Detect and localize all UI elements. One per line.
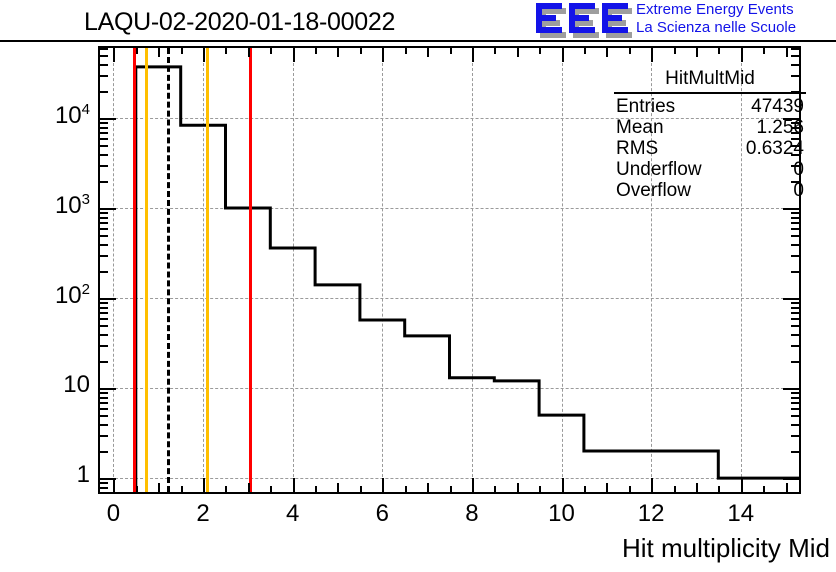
x-axis-tick bbox=[696, 483, 698, 492]
x-axis-tick-top bbox=[786, 48, 788, 57]
y-axis-tick-right bbox=[791, 55, 799, 57]
y-axis-tick-right bbox=[791, 271, 799, 273]
x-axis-tick-top bbox=[651, 48, 653, 62]
x-axis-tick bbox=[651, 478, 653, 492]
x-axis-tick bbox=[562, 478, 564, 492]
y-axis-tick-label: 1 bbox=[77, 461, 90, 489]
y-axis-tick bbox=[100, 302, 108, 304]
x-axis-tick bbox=[629, 486, 631, 492]
x-axis-tick-top bbox=[606, 48, 608, 57]
y-axis-tick bbox=[100, 138, 108, 140]
x-axis-tick-top bbox=[136, 48, 138, 54]
eee-letter-spine bbox=[602, 3, 608, 33]
x-axis-tick-top bbox=[718, 48, 720, 54]
x-axis-tick bbox=[584, 486, 586, 492]
y-axis-tick bbox=[100, 212, 108, 214]
x-axis-tick-top bbox=[629, 48, 631, 54]
x-axis-tick bbox=[763, 486, 765, 492]
x-axis-tick bbox=[472, 478, 474, 492]
y-axis-tick bbox=[100, 132, 108, 134]
y-axis-tick bbox=[100, 235, 108, 237]
x-axis-tick-top bbox=[293, 48, 295, 62]
y-axis-tick bbox=[100, 424, 108, 426]
y-axis-tick bbox=[100, 487, 108, 489]
x-axis-tick-label: 8 bbox=[465, 500, 478, 528]
y-axis-tick-right bbox=[791, 408, 799, 410]
x-axis-title: Hit multiplicity Mid bbox=[622, 533, 830, 564]
stats-key: Overflow bbox=[616, 180, 691, 202]
red-line-high bbox=[249, 48, 252, 492]
x-axis-tick bbox=[270, 486, 272, 492]
red-line-low bbox=[133, 48, 136, 492]
y-axis-tick-right bbox=[783, 298, 799, 300]
eee-letter-spine bbox=[536, 3, 542, 33]
x-axis-tick bbox=[360, 486, 362, 492]
x-axis-tick-top bbox=[494, 48, 496, 54]
x-axis-tick-top bbox=[517, 48, 519, 57]
x-axis-tick bbox=[315, 486, 317, 492]
y-axis-tick-right bbox=[791, 318, 799, 320]
y-axis-tick bbox=[100, 334, 108, 336]
y-axis-tick bbox=[100, 48, 108, 50]
x-axis-tick-top bbox=[225, 48, 227, 54]
x-axis-tick bbox=[113, 478, 115, 492]
y-axis-tick bbox=[100, 478, 116, 480]
y-axis-tick bbox=[100, 415, 108, 417]
stats-divider bbox=[614, 92, 806, 94]
x-axis-tick bbox=[405, 486, 407, 492]
stats-key: Underflow bbox=[616, 159, 702, 181]
y-axis-tick bbox=[100, 325, 108, 327]
stats-value: 47439 bbox=[751, 96, 804, 118]
y-axis-tick bbox=[100, 154, 108, 156]
y-axis-tick-right bbox=[791, 451, 799, 453]
x-axis-tick bbox=[450, 486, 452, 492]
y-axis-tick bbox=[100, 298, 116, 300]
x-axis-tick bbox=[248, 483, 250, 492]
y-axis-tick-right bbox=[791, 424, 799, 426]
y-axis-tick bbox=[100, 361, 108, 363]
x-axis-tick-top bbox=[181, 48, 183, 54]
x-axis-tick-top bbox=[741, 48, 743, 62]
x-axis-tick-top bbox=[472, 48, 474, 62]
x-axis-tick-label: 6 bbox=[376, 500, 389, 528]
stats-row: Mean1.256 bbox=[616, 117, 804, 139]
x-axis-tick-top bbox=[360, 48, 362, 54]
y-axis-tick bbox=[100, 64, 108, 66]
orange-line-low bbox=[145, 48, 148, 492]
page-title: LAQU-02-2020-01-18-00022 bbox=[84, 8, 395, 37]
x-axis-tick bbox=[517, 483, 519, 492]
x-axis-tick-top bbox=[763, 48, 765, 54]
x-axis-tick-top bbox=[539, 48, 541, 54]
y-axis-tick-label: 10 bbox=[63, 371, 90, 399]
y-axis-tick bbox=[100, 388, 116, 390]
y-axis-tick-right bbox=[791, 312, 799, 314]
y-axis-tick-right bbox=[791, 64, 799, 66]
x-axis-tick bbox=[181, 486, 183, 492]
stats-row: Underflow0 bbox=[616, 159, 804, 181]
y-axis-tick bbox=[100, 91, 108, 93]
y-axis-tick-right bbox=[791, 217, 799, 219]
x-axis-tick bbox=[203, 478, 205, 492]
orange-line-high bbox=[206, 48, 209, 492]
eee-letter-spine bbox=[569, 3, 575, 33]
y-axis-tick-label: 102 bbox=[55, 281, 90, 310]
y-axis-tick bbox=[100, 75, 108, 77]
y-axis-tick bbox=[100, 435, 108, 437]
y-axis-tick-right bbox=[791, 48, 799, 50]
y-axis-tick bbox=[100, 392, 108, 394]
y-axis-tick bbox=[100, 397, 108, 399]
x-axis-tick bbox=[337, 483, 339, 492]
y-axis-tick bbox=[100, 127, 108, 129]
x-axis-tick-top bbox=[405, 48, 407, 54]
y-axis-tick bbox=[100, 118, 116, 120]
x-axis-tick-top bbox=[584, 48, 586, 54]
x-axis-tick-label: 12 bbox=[638, 500, 665, 528]
y-axis-tick bbox=[100, 208, 116, 210]
y-axis-tick bbox=[100, 402, 108, 404]
y-axis-tick-right bbox=[791, 402, 799, 404]
y-axis-tick-right bbox=[783, 388, 799, 390]
y-axis-tick-label: 103 bbox=[55, 191, 90, 220]
x-axis-tick bbox=[539, 486, 541, 492]
y-axis-tick bbox=[100, 307, 108, 309]
stats-row: Entries47439 bbox=[616, 96, 804, 118]
stats-key: Mean bbox=[616, 117, 664, 139]
y-axis-tick-right bbox=[791, 244, 799, 246]
y-axis-tick-right bbox=[791, 222, 799, 224]
y-axis-tick bbox=[100, 345, 108, 347]
y-axis-tick-right bbox=[791, 235, 799, 237]
y-axis-tick bbox=[100, 255, 108, 257]
x-axis-tick-top bbox=[158, 48, 160, 57]
y-axis-tick bbox=[100, 165, 108, 167]
stats-row: RMS0.6324 bbox=[616, 138, 804, 160]
y-axis-tick-right bbox=[783, 208, 799, 210]
y-axis-tick bbox=[100, 228, 108, 230]
y-axis-tick-right bbox=[783, 478, 799, 480]
stats-box: HitMultMid Entries47439Mean1.256RMS0.632… bbox=[612, 68, 808, 202]
x-axis-tick-top bbox=[450, 48, 452, 54]
y-axis-tick bbox=[100, 408, 108, 410]
x-axis-tick bbox=[158, 483, 160, 492]
y-axis-tick bbox=[100, 55, 108, 57]
stats-value: 1.256 bbox=[756, 117, 804, 139]
y-axis-tick bbox=[100, 181, 108, 183]
stats-title: HitMultMid bbox=[612, 68, 808, 90]
y-axis-tick bbox=[100, 271, 108, 273]
y-axis-tick-right bbox=[791, 212, 799, 214]
x-axis-tick-label: 0 bbox=[107, 500, 120, 528]
x-axis-tick-label: 4 bbox=[286, 500, 299, 528]
stats-row: Overflow0 bbox=[616, 180, 804, 202]
y-axis-tick-right bbox=[791, 415, 799, 417]
header-divider bbox=[0, 40, 836, 42]
y-axis-tick bbox=[100, 244, 108, 246]
y-axis-tick-right bbox=[791, 334, 799, 336]
x-axis-tick-label: 2 bbox=[196, 500, 209, 528]
y-axis-tick bbox=[100, 145, 108, 147]
y-axis-tick-right bbox=[791, 345, 799, 347]
eee-logo-line2: La Scienza nelle Scuole bbox=[636, 19, 796, 36]
x-axis-tick-label: 14 bbox=[727, 500, 754, 528]
x-axis-tick-top bbox=[382, 48, 384, 62]
stats-key: RMS bbox=[616, 138, 658, 160]
eee-logo-mark bbox=[536, 3, 632, 37]
x-axis-tick-top bbox=[113, 48, 115, 62]
y-axis-tick-right bbox=[791, 397, 799, 399]
y-axis-tick-right bbox=[791, 228, 799, 230]
y-axis-tick bbox=[100, 482, 108, 484]
x-axis-tick-top bbox=[427, 48, 429, 57]
y-axis-tick bbox=[100, 122, 108, 124]
root-canvas: LAQU-02-2020-01-18-00022 Extreme Energy … bbox=[0, 0, 836, 572]
x-axis-tick-label: 10 bbox=[548, 500, 575, 528]
x-axis-tick-top bbox=[562, 48, 564, 62]
x-axis-tick bbox=[494, 486, 496, 492]
x-axis-tick-top bbox=[674, 48, 676, 54]
x-axis-tick bbox=[741, 478, 743, 492]
eee-logo-line1: Extreme Energy Events bbox=[636, 1, 794, 18]
x-axis-tick-top bbox=[337, 48, 339, 57]
x-axis-tick bbox=[136, 486, 138, 492]
y-axis-tick bbox=[100, 451, 108, 453]
stats-value: 0 bbox=[793, 159, 804, 181]
y-axis-tick bbox=[100, 222, 108, 224]
stats-value: 0 bbox=[793, 180, 804, 202]
x-axis-tick bbox=[786, 483, 788, 492]
y-axis-tick bbox=[100, 312, 108, 314]
x-axis-tick bbox=[674, 486, 676, 492]
eee-logo: Extreme Energy Events La Scienza nelle S… bbox=[536, 2, 834, 42]
x-axis-tick-top bbox=[696, 48, 698, 57]
y-axis-tick-right bbox=[791, 325, 799, 327]
y-axis-tick-right bbox=[791, 435, 799, 437]
mean-dashed-line bbox=[167, 48, 170, 492]
y-axis-tick bbox=[100, 217, 108, 219]
x-axis-tick-top bbox=[270, 48, 272, 54]
x-axis-tick-top bbox=[203, 48, 205, 62]
x-axis-tick bbox=[606, 483, 608, 492]
x-axis-tick-top bbox=[315, 48, 317, 54]
x-axis-tick bbox=[225, 486, 227, 492]
stats-key: Entries bbox=[616, 96, 675, 118]
x-axis-tick bbox=[718, 486, 720, 492]
y-axis-tick-right bbox=[791, 307, 799, 309]
y-axis-tick-right bbox=[791, 255, 799, 257]
y-axis-tick-right bbox=[791, 361, 799, 363]
y-axis-tick-label: 104 bbox=[55, 101, 90, 130]
y-axis-tick bbox=[100, 318, 108, 320]
x-axis-tick-top bbox=[248, 48, 250, 57]
x-axis-tick bbox=[427, 483, 429, 492]
y-axis-tick-right bbox=[791, 302, 799, 304]
stats-value: 0.6324 bbox=[746, 138, 804, 160]
x-axis-tick bbox=[382, 478, 384, 492]
y-axis-tick-right bbox=[791, 392, 799, 394]
x-axis-tick bbox=[293, 478, 295, 492]
